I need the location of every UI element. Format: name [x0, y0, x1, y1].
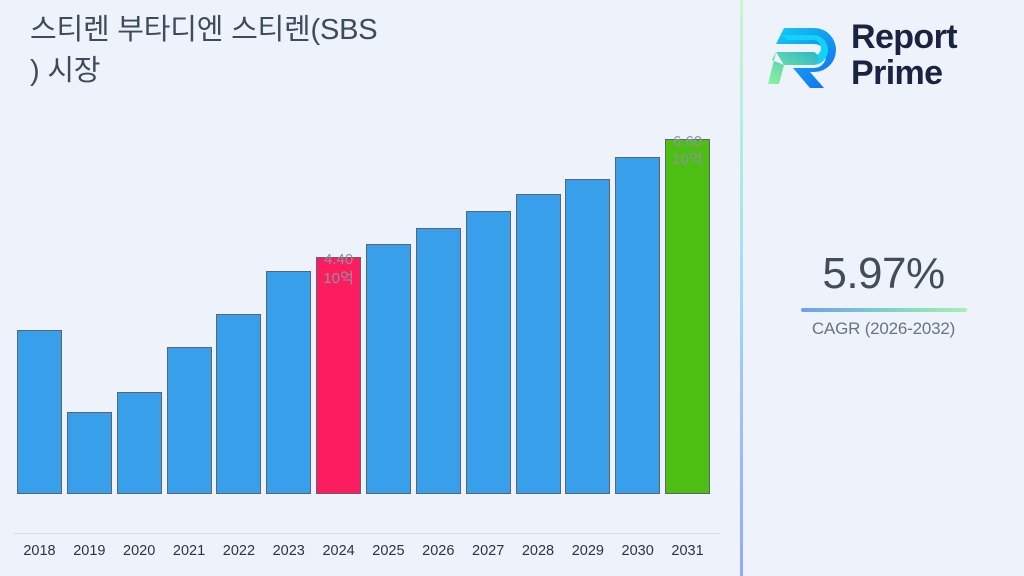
bar-2019[interactable]: [67, 412, 112, 494]
bar-2028[interactable]: [516, 194, 561, 494]
bar-rect-2030[interactable]: [615, 157, 660, 494]
bar-2030[interactable]: [615, 157, 660, 494]
bar-rect-2024[interactable]: [316, 257, 361, 494]
bar-2023[interactable]: [266, 271, 311, 494]
bar-value-label-2024: 4.4010억: [323, 251, 354, 288]
bar-rect-2025[interactable]: [366, 244, 411, 494]
x-tick-2020: 2020: [117, 543, 162, 559]
bar-rect-2018[interactable]: [17, 330, 62, 494]
bar-chart-plot: 2018201920202021202220234.4010억202420252…: [0, 0, 740, 537]
x-tick-2031: 2031: [665, 543, 710, 559]
bar-2025[interactable]: [366, 244, 411, 494]
page-root: 스티렌 부타디엔 스티렌(SBS ) 시장 201820192020202120…: [0, 0, 1024, 576]
report-prime-logo-mark: [767, 22, 841, 88]
x-tick-2022: 2022: [216, 543, 261, 559]
bar-2027[interactable]: [466, 211, 511, 494]
x-tick-2030: 2030: [615, 543, 660, 559]
bar-rect-2027[interactable]: [466, 211, 511, 494]
cagr-divider-rule: [801, 308, 967, 312]
bar-2021[interactable]: [167, 347, 212, 494]
x-axis-line: [14, 533, 720, 534]
bar-rect-2019[interactable]: [67, 412, 112, 494]
x-tick-2025: 2025: [366, 543, 411, 559]
x-tick-2026: 2026: [416, 543, 461, 559]
bar-2026[interactable]: [416, 228, 461, 494]
bar-rect-2026[interactable]: [416, 228, 461, 494]
x-tick-2024: 2024: [316, 543, 361, 559]
bar-rect-2022[interactable]: [216, 314, 261, 494]
x-tick-2027: 2027: [466, 543, 511, 559]
brand-wordmark: Report Prime: [851, 19, 957, 91]
bar-2020[interactable]: [117, 392, 162, 494]
x-tick-2029: 2029: [565, 543, 610, 559]
bar-2022[interactable]: [216, 314, 261, 494]
x-tick-2018: 2018: [17, 543, 62, 559]
x-tick-2019: 2019: [67, 543, 112, 559]
bar-value-label-2031: 6.6010억: [672, 133, 703, 170]
bar-2024[interactable]: [316, 257, 361, 494]
side-panel: Report Prime 5.97% CAGR (2026-2032): [743, 0, 1024, 576]
bar-value-2031: 6.60: [672, 133, 703, 151]
brand-logo: Report Prime: [767, 14, 1017, 96]
bar-value-2024: 4.40: [323, 251, 354, 269]
bar-2018[interactable]: [17, 330, 62, 494]
bar-rect-2029[interactable]: [565, 179, 610, 494]
cagr-value: 5.97%: [743, 250, 1024, 298]
cagr-caption: CAGR (2026-2032): [743, 319, 1024, 339]
x-tick-2023: 2023: [266, 543, 311, 559]
x-tick-2021: 2021: [167, 543, 212, 559]
brand-wordmark-line1: Report: [851, 19, 957, 55]
bar-rect-2021[interactable]: [167, 347, 212, 494]
x-tick-2028: 2028: [516, 543, 561, 559]
bar-rect-2028[interactable]: [516, 194, 561, 494]
bar-rect-2020[interactable]: [117, 392, 162, 494]
bar-unit-2024: 10억: [323, 270, 354, 288]
bar-unit-2031: 10억: [672, 151, 703, 169]
bar-2031[interactable]: [665, 139, 710, 494]
cagr-block: 5.97% CAGR (2026-2032): [743, 250, 1024, 339]
chart-panel: 스티렌 부타디엔 스티렌(SBS ) 시장 201820192020202120…: [0, 0, 740, 576]
bar-rect-2031[interactable]: [665, 139, 710, 494]
bar-2029[interactable]: [565, 179, 610, 494]
brand-wordmark-line2: Prime: [851, 55, 957, 91]
bar-rect-2023[interactable]: [266, 271, 311, 494]
